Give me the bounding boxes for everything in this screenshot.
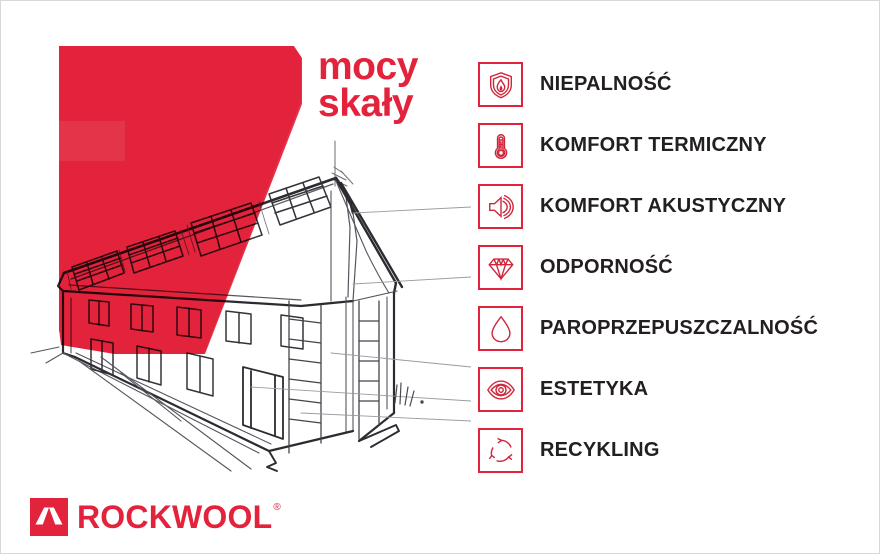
headline: mocy skały xyxy=(318,48,468,123)
feature-item-komfort-termiczny: KOMFORT TERMICZNY xyxy=(478,122,874,169)
feature-item-niepalnosc: NIEPALNOŚĆ xyxy=(478,61,874,108)
feature-item-komfort-akustyczny: KOMFORT AKUSTYCZNY xyxy=(478,183,874,230)
feature-item-recykling: RECYKLING xyxy=(478,427,874,474)
feature-label: KOMFORT TERMICZNY xyxy=(540,134,767,157)
feature-list: NIEPALNOŚĆ KOMFORT TERMICZNY xyxy=(478,61,874,488)
feature-item-estetyka: ESTETYKA xyxy=(478,366,874,413)
speaker-sound-icon xyxy=(478,184,523,229)
feature-label: ODPORNOŚĆ xyxy=(540,256,673,279)
feature-item-paroprzepuszczalnosc: PAROPRZEPUSZCZALNOŚĆ xyxy=(478,305,874,352)
shield-flame-icon xyxy=(478,62,523,107)
feature-label: RECYKLING xyxy=(540,439,660,462)
water-drop-icon xyxy=(478,306,523,351)
feature-label: NIEPALNOŚĆ xyxy=(540,73,672,96)
rockwool-wordmark-text: ROCKWOOL xyxy=(77,501,272,533)
headline-line-2: skały xyxy=(318,85,468,122)
recycle-arrows-icon xyxy=(478,428,523,473)
poster-canvas: mocy skały NIEPALNOŚĆ xyxy=(0,0,880,554)
eye-icon xyxy=(478,367,523,412)
thermometer-icon xyxy=(478,123,523,168)
rockwool-wordmark: ROCKWOOL ® xyxy=(77,501,281,533)
feature-label: ESTETYKA xyxy=(540,378,648,401)
headline-line-1: mocy xyxy=(318,48,468,85)
feature-label: PAROPRZEPUSZCZALNOŚĆ xyxy=(540,317,818,340)
registered-trademark-symbol: ® xyxy=(273,503,280,513)
rockwool-mountain-mark-icon xyxy=(30,498,68,536)
diamond-icon xyxy=(478,245,523,290)
feature-item-odpornosc: ODPORNOŚĆ xyxy=(478,244,874,291)
feature-label: KOMFORT AKUSTYCZNY xyxy=(540,195,786,218)
rockwool-logo: ROCKWOOL ® xyxy=(30,498,281,536)
